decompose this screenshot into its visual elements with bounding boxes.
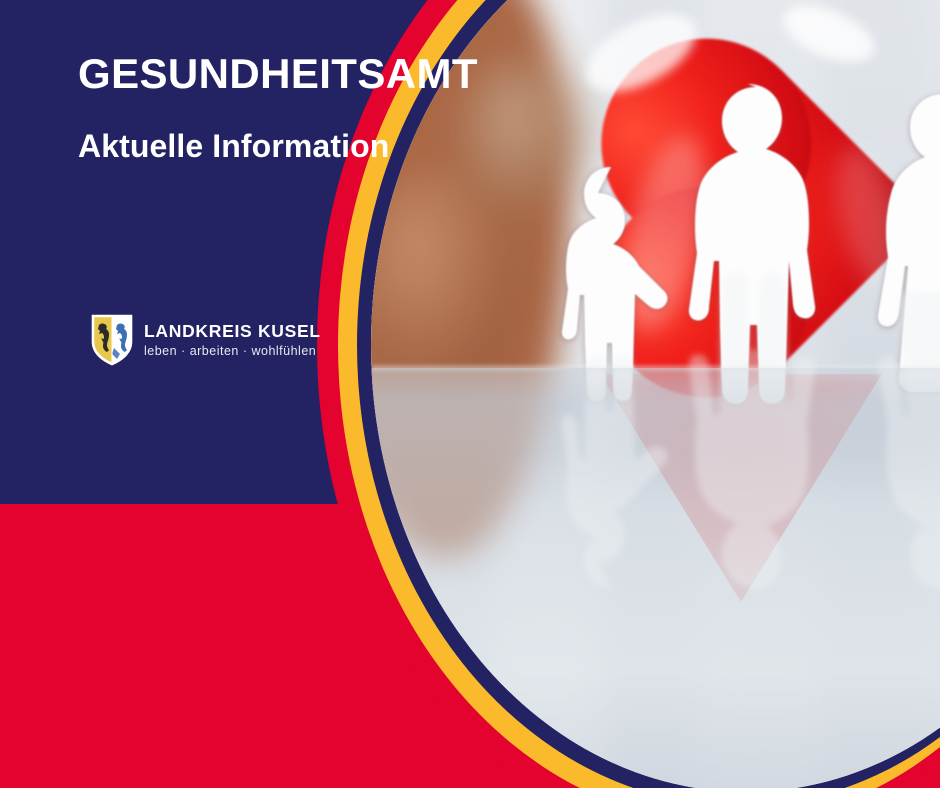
- landkreis-kusel-coat-of-arms-icon: [90, 314, 134, 366]
- logo-tagline: leben · arbeiten · wohlfühlen: [144, 343, 321, 359]
- page-title: GESUNDHEITSAMT: [78, 50, 478, 98]
- landkreis-kusel-logo: LANDKREIS KUSEL leben · arbeiten · wohlf…: [90, 314, 321, 366]
- hero-photo-disc: [371, 0, 940, 788]
- logo-title: LANDKREIS KUSEL: [144, 322, 321, 341]
- glossy-table-surface: [371, 368, 940, 788]
- reflection-child-left: [549, 342, 679, 592]
- reflection-father: [671, 262, 841, 592]
- poster-canvas: GESUNDHEITSAMT Aktuelle Information: [0, 0, 940, 788]
- page-subtitle: Aktuelle Information: [78, 126, 389, 166]
- reflection-mother: [859, 268, 940, 593]
